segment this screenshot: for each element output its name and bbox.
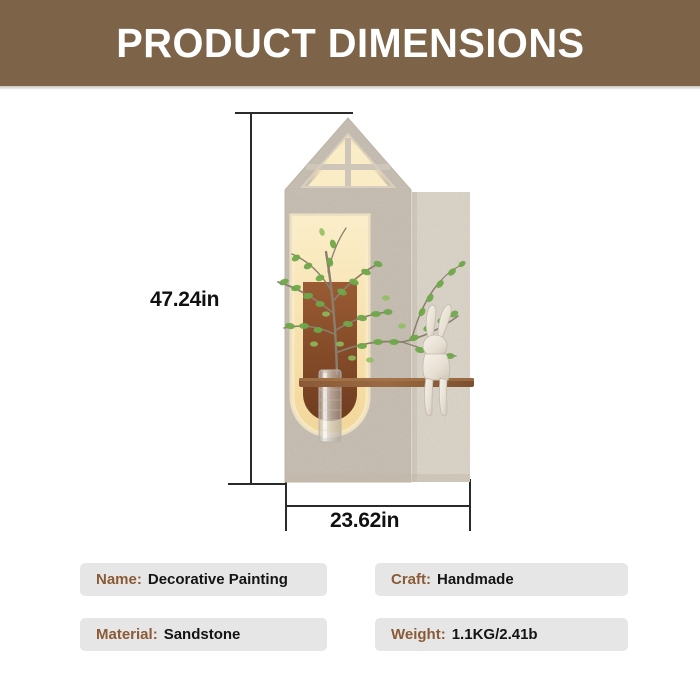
height-dimension-line bbox=[250, 112, 252, 484]
width-dimension-label: 23.62in bbox=[330, 509, 399, 533]
spec-label: Name: bbox=[96, 571, 142, 588]
spec-item-name: Name: Decorative Painting bbox=[80, 563, 327, 596]
spec-value: Sandstone bbox=[164, 626, 241, 643]
spec-list: Name: Decorative Painting Craft: Handmad… bbox=[80, 563, 628, 651]
spec-item-weight: Weight: 1.1KG/2.41b bbox=[375, 618, 628, 651]
page-title: PRODUCT DIMENSIONS bbox=[116, 23, 584, 64]
product-dimensions-infographic: PRODUCT DIMENSIONS 47.24in 23.62in bbox=[0, 0, 700, 700]
spec-label: Material: bbox=[96, 626, 158, 643]
spec-label: Craft: bbox=[391, 571, 431, 588]
spec-value: Handmade bbox=[437, 571, 514, 588]
spec-item-craft: Craft: Handmade bbox=[375, 563, 628, 596]
height-dimension-label: 47.24in bbox=[150, 288, 219, 312]
spec-value: Decorative Painting bbox=[148, 571, 288, 588]
product-image bbox=[262, 112, 477, 487]
spec-value: 1.1KG/2.41b bbox=[452, 626, 538, 643]
header-banner: PRODUCT DIMENSIONS bbox=[0, 0, 700, 86]
header-shadow bbox=[0, 86, 700, 90]
spec-label: Weight: bbox=[391, 626, 446, 643]
width-dimension-line bbox=[286, 505, 471, 507]
spec-item-material: Material: 1.1KG/2.41b Sandstone bbox=[80, 618, 327, 651]
product-base-shadow bbox=[285, 474, 470, 482]
width-tick-left bbox=[285, 481, 287, 531]
